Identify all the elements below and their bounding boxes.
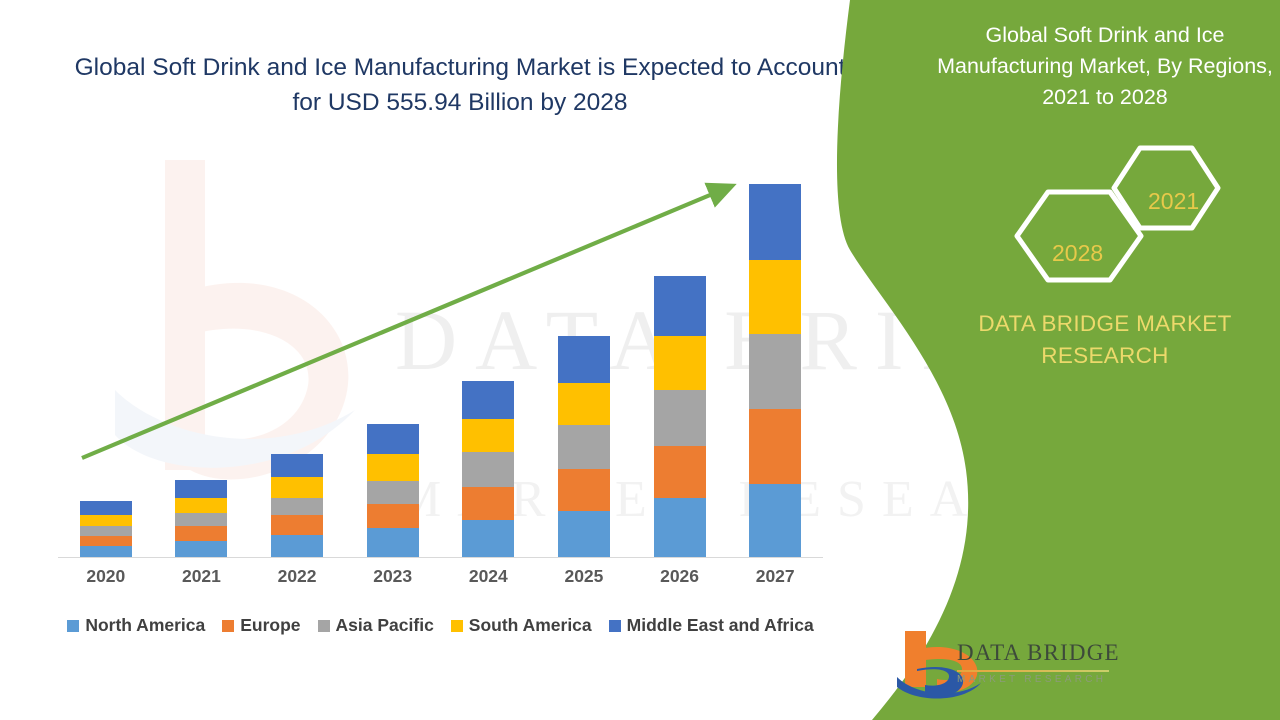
bar-segment-north-america[interactable] — [175, 541, 227, 557]
bar-segment-europe[interactable] — [80, 536, 132, 546]
logo-subtitle-wrap: MARKET RESEARCH — [957, 672, 1117, 685]
hexagon-shapes-icon — [970, 140, 1250, 285]
bar-segment-europe[interactable] — [367, 504, 419, 529]
bar-segment-south-america[interactable] — [462, 419, 514, 453]
x-axis-label-2026: 2026 — [632, 566, 727, 587]
bar-segment-south-america[interactable] — [749, 260, 801, 334]
bar-segment-europe[interactable] — [175, 526, 227, 541]
bar-segment-middle-east-and-africa[interactable] — [654, 276, 706, 335]
legend-label-middle-east-and-africa: Middle East and Africa — [627, 615, 814, 636]
x-axis-label-2027: 2027 — [728, 566, 823, 587]
panel-content: Global Soft Drink and Ice Manufacturing … — [930, 0, 1280, 720]
bar-column-2022 — [250, 160, 345, 557]
bar-segment-asia-pacific[interactable] — [367, 481, 419, 504]
bar-segment-asia-pacific[interactable] — [80, 526, 132, 536]
stacked-bar[interactable] — [654, 276, 706, 557]
bar-segment-south-america[interactable] — [80, 515, 132, 527]
logo-text: DATA BRIDGE — [957, 640, 1117, 666]
bar-segment-south-america[interactable] — [558, 383, 610, 426]
bar-segment-middle-east-and-africa[interactable] — [462, 381, 514, 418]
bar-segment-south-america[interactable] — [367, 454, 419, 480]
hexagon-group: 2021 2028 — [970, 140, 1250, 285]
x-axis-line — [58, 557, 823, 558]
stacked-bar[interactable] — [558, 336, 610, 557]
legend-swatch-north-america — [67, 620, 79, 632]
stacked-bar-chart — [58, 160, 823, 557]
bar-segment-europe[interactable] — [271, 515, 323, 535]
stacked-bar[interactable] — [462, 381, 514, 557]
bar-column-2025 — [536, 160, 631, 557]
bar-segment-south-america[interactable] — [175, 498, 227, 513]
bar-segment-middle-east-and-africa[interactable] — [271, 454, 323, 477]
stacked-bar[interactable] — [271, 454, 323, 557]
bar-segment-south-america[interactable] — [654, 336, 706, 390]
bar-segment-north-america[interactable] — [80, 546, 132, 557]
bar-segment-europe[interactable] — [558, 469, 610, 511]
legend-label-europe: Europe — [240, 615, 300, 636]
bar-column-2024 — [441, 160, 536, 557]
x-axis-label-2021: 2021 — [154, 566, 249, 587]
panel-title: Global Soft Drink and Ice Manufacturing … — [930, 20, 1280, 113]
bar-segment-middle-east-and-africa[interactable] — [367, 424, 419, 454]
legend-item-south-america[interactable]: South America — [451, 615, 592, 636]
legend-label-north-america: North America — [85, 615, 205, 636]
bar-segment-north-america[interactable] — [749, 484, 801, 557]
bar-segment-europe[interactable] — [462, 487, 514, 520]
logo-title: DATA BRIDGE — [957, 640, 1117, 666]
bar-column-2020 — [58, 160, 153, 557]
slide-canvas: DATA BRIDGE MARKET RESEARCH Global Soft … — [0, 0, 1280, 720]
hexagon-2021-label: 2021 — [1148, 188, 1199, 215]
bar-segment-europe[interactable] — [654, 446, 706, 499]
legend-label-south-america: South America — [469, 615, 592, 636]
legend-swatch-europe — [222, 620, 234, 632]
stacked-bar[interactable] — [175, 480, 227, 557]
bar-segment-north-america[interactable] — [271, 535, 323, 557]
bar-segment-asia-pacific[interactable] — [749, 334, 801, 409]
legend-item-europe[interactable]: Europe — [222, 615, 300, 636]
bar-segment-europe[interactable] — [749, 409, 801, 484]
bar-segment-asia-pacific[interactable] — [175, 513, 227, 526]
legend-swatch-south-america — [451, 620, 463, 632]
chart-title: Global Soft Drink and Ice Manufacturing … — [60, 50, 860, 120]
x-axis-label-2020: 2020 — [58, 566, 153, 587]
bar-segment-asia-pacific[interactable] — [462, 452, 514, 487]
bar-segment-north-america[interactable] — [367, 528, 419, 557]
chart-legend: North AmericaEuropeAsia PacificSouth Ame… — [58, 615, 823, 636]
bar-segment-asia-pacific[interactable] — [558, 425, 610, 469]
hexagon-2028-label: 2028 — [1052, 240, 1103, 267]
bar-segment-middle-east-and-africa[interactable] — [558, 336, 610, 383]
bar-column-2023 — [345, 160, 440, 557]
legend-swatch-asia-pacific — [318, 620, 330, 632]
bar-segment-middle-east-and-africa[interactable] — [749, 184, 801, 260]
bar-column-2027 — [728, 160, 823, 557]
legend-label-asia-pacific: Asia Pacific — [336, 615, 434, 636]
stacked-bar[interactable] — [80, 501, 132, 557]
bar-segment-north-america[interactable] — [654, 498, 706, 557]
bar-segment-north-america[interactable] — [558, 511, 610, 557]
x-axis-label-2024: 2024 — [441, 566, 536, 587]
bar-column-2021 — [154, 160, 249, 557]
bar-column-2026 — [632, 160, 727, 557]
panel-brand-name: DATA BRIDGE MARKET RESEARCH — [930, 308, 1280, 372]
bar-segment-middle-east-and-africa[interactable] — [80, 501, 132, 514]
legend-swatch-middle-east-and-africa — [609, 620, 621, 632]
x-axis-label-2025: 2025 — [536, 566, 631, 587]
legend-item-asia-pacific[interactable]: Asia Pacific — [318, 615, 434, 636]
x-axis-label-2022: 2022 — [250, 566, 345, 587]
legend-item-middle-east-and-africa[interactable]: Middle East and Africa — [609, 615, 814, 636]
bar-segment-asia-pacific[interactable] — [654, 390, 706, 446]
logo-subtitle: MARKET RESEARCH — [957, 674, 1117, 685]
bar-segment-middle-east-and-africa[interactable] — [175, 480, 227, 498]
x-axis-labels: 20202021202220232024202520262027 — [58, 566, 823, 587]
stacked-bar[interactable] — [749, 184, 801, 557]
stacked-bar[interactable] — [367, 424, 419, 557]
legend-item-north-america[interactable]: North America — [67, 615, 205, 636]
bar-segment-asia-pacific[interactable] — [271, 498, 323, 516]
bar-segment-north-america[interactable] — [462, 520, 514, 557]
x-axis-label-2023: 2023 — [345, 566, 440, 587]
bar-segment-south-america[interactable] — [271, 477, 323, 498]
